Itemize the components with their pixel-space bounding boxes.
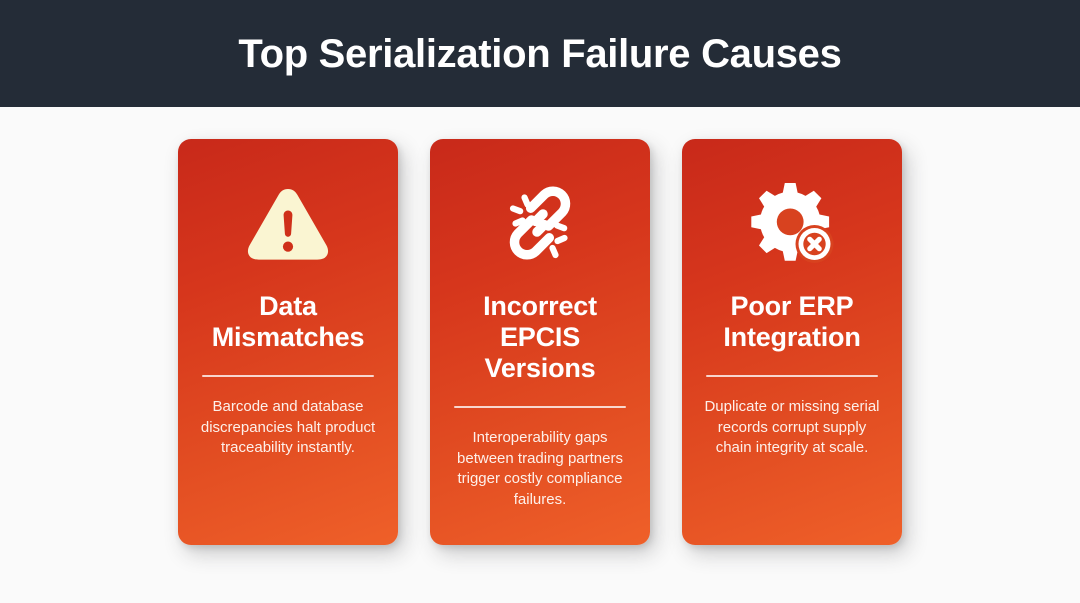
- card-title-line-1: Data: [259, 291, 317, 321]
- card-divider: [706, 375, 878, 377]
- card-divider: [202, 375, 374, 377]
- card-incorrect-epcis-versions[interactable]: Incorrect EPCIS Versions Interoperabilit…: [430, 139, 650, 545]
- card-data-mismatches[interactable]: Data Mismatches Barcode and database dis…: [178, 139, 398, 545]
- card-title: Data Mismatches: [212, 291, 365, 353]
- card-title-line-2: EPCIS Versions: [485, 322, 596, 383]
- infographic-root: Top Serialization Failure Causes Data Mi…: [0, 0, 1080, 603]
- card-title-line-1: Incorrect: [483, 291, 597, 321]
- card-title-line-1: Poor ERP: [731, 291, 854, 321]
- card-poor-erp-integration[interactable]: Poor ERP Integration Duplicate or missin…: [682, 139, 902, 545]
- card-divider: [454, 406, 626, 408]
- page-title: Top Serialization Failure Causes: [238, 32, 841, 76]
- header-bar: Top Serialization Failure Causes: [0, 0, 1080, 107]
- cards-container: Data Mismatches Barcode and database dis…: [0, 107, 1080, 603]
- card-title: Poor ERP Integration: [723, 291, 860, 353]
- card-title-line-2: Mismatches: [212, 322, 365, 352]
- warning-triangle-icon: [246, 181, 330, 265]
- broken-chain-link-icon: [498, 181, 582, 265]
- card-body-text: Interoperability gaps between trading pa…: [446, 428, 634, 510]
- card-body-text: Barcode and database discrepancies halt …: [194, 397, 382, 459]
- card-title-line-2: Integration: [723, 322, 860, 352]
- card-body-text: Duplicate or missing serial records corr…: [698, 397, 886, 459]
- gear-error-icon: [748, 181, 836, 265]
- card-title: Incorrect EPCIS Versions: [446, 291, 634, 384]
